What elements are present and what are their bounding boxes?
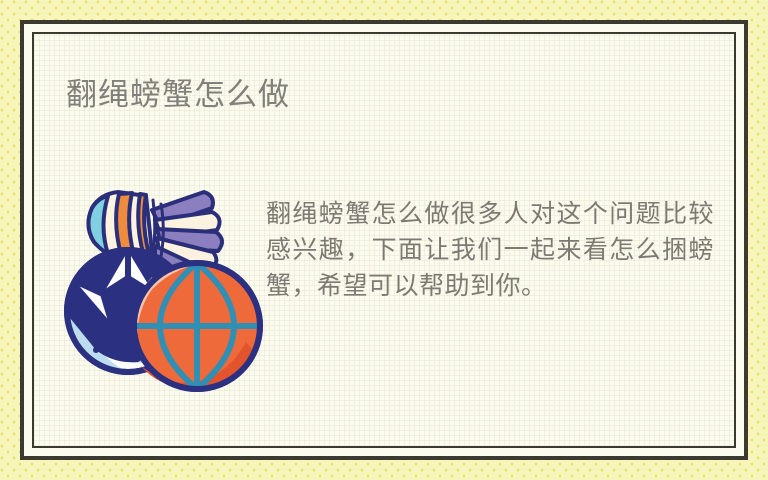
page-title: 翻绳螃蟹怎么做: [66, 76, 290, 115]
article-body-text: 翻绳螃蟹怎么做很多人对这个问题比较感兴趣，下面让我们一起来看怎么捆螃蟹，希望可以…: [266, 196, 714, 304]
decorative-frame-outer: 翻绳螃蟹怎么做: [20, 20, 748, 460]
sports-balls-illustration: [56, 174, 270, 394]
decorative-frame-inner: 翻绳螃蟹怎么做: [32, 32, 736, 448]
page-background: 翻绳螃蟹怎么做: [0, 0, 768, 480]
basketball-icon: [134, 263, 260, 389]
